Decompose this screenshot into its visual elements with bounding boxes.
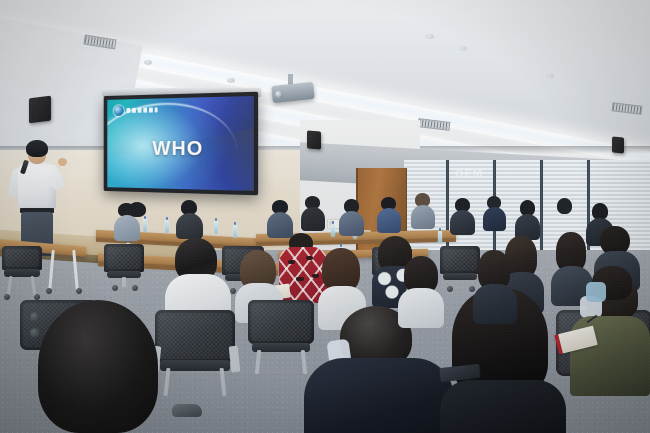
smoke-detector-5 <box>546 73 554 78</box>
slide-headline: WHO <box>107 138 254 162</box>
attendee-hair <box>38 300 158 433</box>
slide-logo-mark-icon <box>114 105 124 116</box>
bottled-water <box>143 219 147 232</box>
bottled-water <box>438 231 442 244</box>
bottled-water <box>233 225 237 238</box>
presentation-slide: WHO <box>107 96 254 191</box>
slide-logo-wordmark <box>127 107 158 113</box>
office-chair-m1[interactable] <box>104 244 144 290</box>
office-chair-f1[interactable] <box>155 310 235 396</box>
bottled-water <box>165 220 169 233</box>
presenter-pointing-hand <box>58 158 67 166</box>
projector-lens <box>275 90 284 99</box>
wall-speaker-right <box>307 130 321 149</box>
projection-screen: WHO <box>104 92 258 196</box>
wall-speaker-far-right <box>612 136 624 153</box>
office-chair-m4[interactable] <box>440 246 480 292</box>
smoke-detector-2 <box>227 78 235 83</box>
office-chair-f2[interactable] <box>248 300 314 374</box>
wall-speaker-left <box>29 96 51 124</box>
shoe <box>172 404 202 417</box>
face-mask-blue <box>586 282 606 302</box>
presenter <box>8 140 68 255</box>
presenter-hair <box>26 140 48 157</box>
bottled-water <box>214 221 218 234</box>
slide-logo <box>114 104 158 116</box>
smoke-detector-3 <box>425 34 434 39</box>
glass-etched-text: OEM <box>455 168 515 180</box>
air-vent-grille-far-right <box>612 102 643 115</box>
conference-room-photo: OEM WHO <box>0 0 650 433</box>
bottled-water <box>331 224 335 237</box>
smoke-detector-1 <box>144 60 152 65</box>
smoke-detector-4 <box>459 46 467 51</box>
